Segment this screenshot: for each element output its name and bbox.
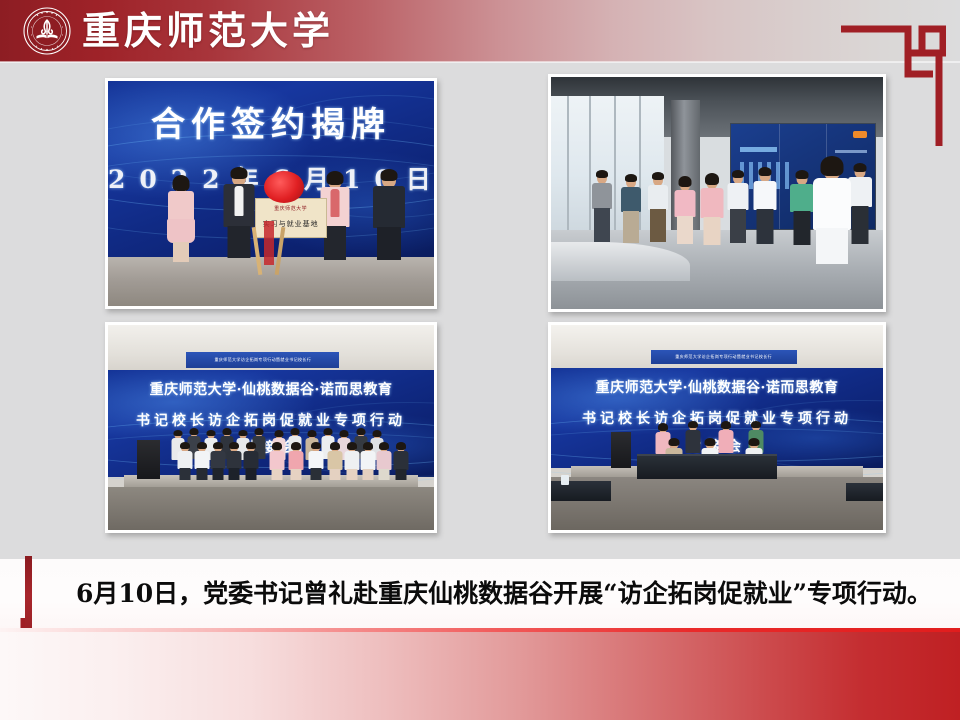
hall-banner-2-text: 重庆师范大学访企拓岗专项行动暨就业书记校长行 xyxy=(675,354,772,360)
visitor-2 xyxy=(617,174,645,244)
photo-signing-table-canvas: 重庆师范大学访企拓岗专项行动暨就业书记校长行 重庆师范大学·仙桃数据谷·诺而思教… xyxy=(551,325,883,530)
screen-headline: 合作签约揭牌 xyxy=(108,97,434,146)
photo-group-photo-canvas: 重庆师范大学访企拓岗专项行动暨就业书记校长行 重庆师范大学·仙桃数据谷·诺而思教… xyxy=(108,325,434,530)
photo-exhibition-tour-canvas xyxy=(551,77,883,309)
photo-signing-unveiling-canvas: 合作签约揭牌 2022年6月10日 xyxy=(108,81,434,306)
podium-2 xyxy=(611,432,631,469)
screen-line-2: 书记校长访企拓岗促就业专项行动 xyxy=(108,410,434,430)
header-separator xyxy=(0,61,960,63)
witness-2 xyxy=(684,421,702,454)
attendee-1 xyxy=(160,176,202,264)
side-table xyxy=(551,481,611,502)
hall-banner-text: 重庆师范大学访企拓岗专项行动暨就业书记校长行 xyxy=(214,357,311,363)
podium xyxy=(137,440,160,479)
page-title: 重庆师范大学 xyxy=(82,8,334,54)
photo-group-photo[interactable]: 重庆师范大学访企拓岗专项行动暨就业书记校长行 重庆师范大学·仙桃数据谷·诺而思教… xyxy=(105,322,437,533)
photo-signing-table[interactable]: 重庆师范大学访企拓岗专项行动暨就业书记校长行 重庆师范大学·仙桃数据谷·诺而思教… xyxy=(548,322,886,533)
visitor-4 xyxy=(671,177,699,245)
tour-guide xyxy=(807,156,857,266)
red-ribbon xyxy=(264,221,274,265)
signing-table xyxy=(637,454,776,479)
water-bottle xyxy=(561,475,569,485)
university-seal-icon xyxy=(23,7,71,55)
slide-root: 重庆师范大学 xyxy=(0,0,960,720)
visitor-6 xyxy=(724,170,752,244)
plaque-line-1: 重庆师范大学 xyxy=(256,205,326,212)
visitor-7 xyxy=(750,167,780,245)
visitor-3 xyxy=(644,172,672,244)
photo-exhibition-tour[interactable] xyxy=(548,74,886,312)
caption-accent-bar xyxy=(25,556,32,628)
visitor-5 xyxy=(697,174,727,246)
hall-banner-2: 重庆师范大学访企拓岗专项行动暨就业书记校长行 xyxy=(651,350,797,364)
side-table-right xyxy=(846,483,883,501)
carpet-floor xyxy=(108,487,434,530)
photo-signing-unveiling[interactable]: 合作签约揭牌 2022年6月10日 xyxy=(105,78,437,309)
caption-text: 6月10日，党委书记曾礼赴重庆仙桃数据谷开展“访企拓岗促就业”专项行动。 xyxy=(76,570,938,614)
screen-2-line-1: 重庆师范大学·仙桃数据谷·诺而思教育 xyxy=(551,377,883,397)
footer-band xyxy=(0,632,960,720)
attendee-4 xyxy=(366,169,412,263)
hall-banner: 重庆师范大学访企拓岗专项行动暨就业书记校长行 xyxy=(186,352,339,368)
visitor-1 xyxy=(588,170,616,244)
screen-line-1: 重庆师范大学·仙桃数据谷·诺而思教育 xyxy=(108,379,434,399)
hall-wall xyxy=(108,325,434,376)
